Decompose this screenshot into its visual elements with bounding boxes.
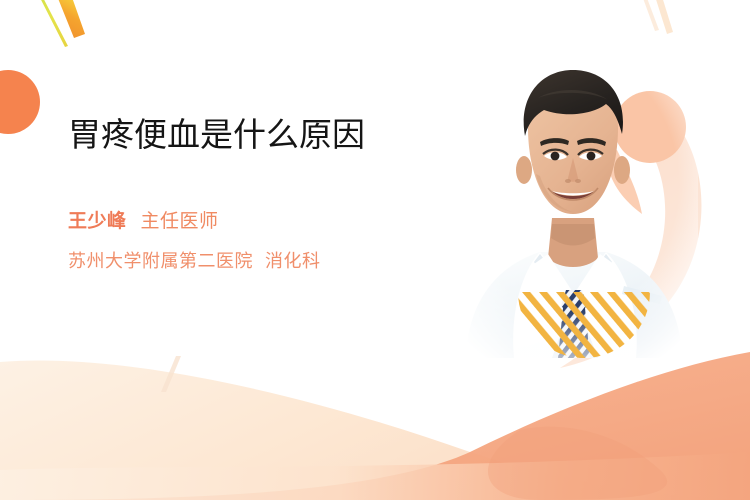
doctor-identity-row: 王少峰 主任医师	[68, 206, 428, 233]
top-right-stripes	[640, 0, 673, 34]
doctor-portrait	[448, 58, 698, 358]
top-right-stripe-b	[640, 0, 659, 31]
department-name: 消化科	[265, 247, 321, 273]
doctor-professional-title: 主任医师	[141, 206, 219, 233]
bottom-wave-group	[0, 352, 750, 500]
top-left-stripes	[34, 0, 85, 47]
doctor-info-card: 胃疼便血是什么原因 王少峰 主任医师 苏州大学附属第二医院 消化科	[0, 0, 750, 500]
doctor-name: 王少峰	[68, 206, 127, 233]
left-orange-circle	[0, 70, 40, 134]
text-block: 胃疼便血是什么原因 王少峰 主任医师 苏州大学附属第二医院 消化科	[68, 116, 428, 273]
page-title: 胃疼便血是什么原因	[68, 116, 398, 154]
hospital-name: 苏州大学附属第二医院	[68, 247, 253, 273]
doctor-affiliation-row: 苏州大学附属第二医院 消化科	[68, 247, 428, 273]
